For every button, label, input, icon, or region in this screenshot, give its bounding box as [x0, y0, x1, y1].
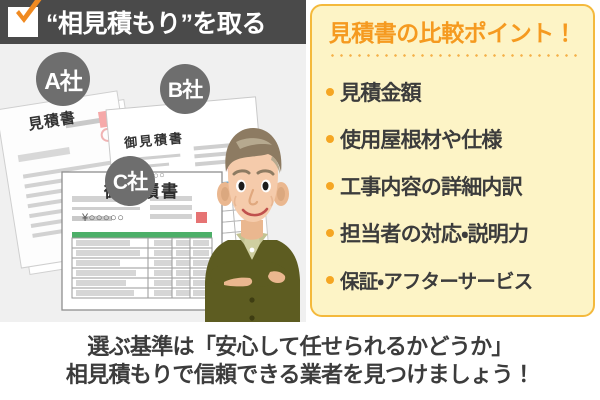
badge-company-a: A社	[36, 52, 90, 106]
paper-c-amount: ¥○○○○○	[82, 212, 124, 224]
list-item-label: 見積金額	[340, 77, 421, 107]
bullet-dot-icon	[326, 182, 334, 190]
caption-line-2: 相見積もりで信頼できる業者を見つけましょう！	[66, 361, 534, 389]
checkbox-box	[8, 7, 38, 37]
badge-company-b-label: B社	[168, 74, 202, 104]
badge-company-c: C社	[105, 156, 155, 206]
list-item: 工事内容の詳細内訳	[326, 162, 588, 209]
list-item-label: 使用屋根材や仕様	[340, 124, 502, 154]
list-item-label: 保証・アフターサービス	[340, 265, 532, 294]
panel-title: 見積書の比較ポイント！	[312, 14, 593, 48]
comparison-points-panel: 見積書の比較ポイント！ 見積金額 使用屋根材や仕様 工事内容の詳細内訳 担当者の…	[310, 4, 595, 317]
bottom-caption: 選ぶ基準は「安心して任せられるかどうか」 相見積もりで信頼できる業者を見つけまし…	[0, 322, 600, 400]
list-item-label: 担当者の対応・説明力	[340, 218, 528, 248]
caption-line-1: 選ぶ基準は「安心して任せられるかどうか」	[87, 333, 512, 361]
list-item: 保証・アフターサービス	[326, 256, 588, 303]
badge-company-c-label: C社	[113, 166, 147, 196]
badge-company-a-label: A社	[44, 62, 82, 96]
bullet-dot-icon	[326, 88, 334, 96]
documents-illustration: 見積書 御見積書 ¥○○○○○ 御見積書 ¥○○○○○ A社 B社 C社	[0, 44, 306, 322]
bullet-dot-icon	[326, 229, 334, 237]
bullet-dot-icon	[326, 276, 334, 284]
list-item: 担当者の対応・説明力	[326, 209, 588, 256]
list-item-label: 工事内容の詳細内訳	[340, 171, 522, 201]
list-item: 使用屋根材や仕様	[326, 115, 588, 162]
panel-divider	[328, 54, 578, 57]
header-bar: “相見積もり”を取る	[0, 0, 306, 44]
comparison-points-list: 見積金額 使用屋根材や仕様 工事内容の詳細内訳 担当者の対応・説明力 保証・アフ…	[326, 68, 588, 303]
header-title: “相見積もり”を取る	[46, 0, 266, 44]
infographic-root: “相見積もり”を取る	[0, 0, 600, 400]
badge-company-b: B社	[160, 64, 210, 114]
list-item: 見積金額	[326, 68, 588, 115]
bullet-dot-icon	[326, 135, 334, 143]
